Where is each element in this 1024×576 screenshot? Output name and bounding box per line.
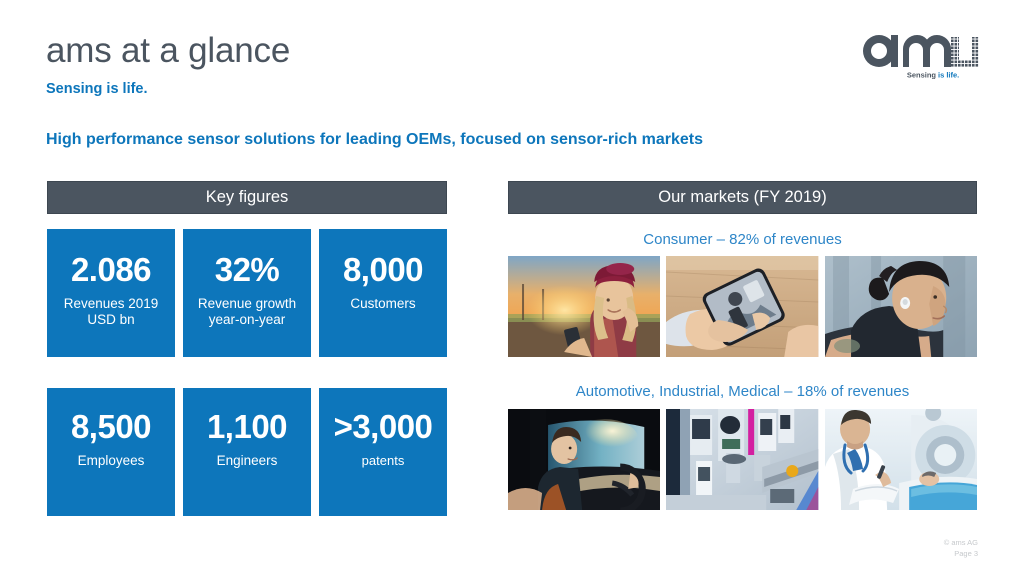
market-photo-row-automotive-industrial-medical <box>508 409 977 510</box>
key-figure-label: patents <box>362 453 405 469</box>
key-figure-tile-revenue-growth: 32% Revenue growth year-on-year <box>183 229 311 357</box>
market-caption-automotive-industrial-medical: Automotive, Industrial, Medical – 18% of… <box>508 383 977 400</box>
key-figure-label: Revenue growth year-on-year <box>198 296 296 329</box>
footer-copyright: © ams AG <box>944 538 978 549</box>
key-figure-tile-customers: 8,000 Customers <box>319 229 447 357</box>
key-figure-value: 1,100 <box>207 410 287 445</box>
key-figure-tile-revenues: 2.086 Revenues 2019 USD bn <box>47 229 175 357</box>
key-figure-label: Revenues 2019 USD bn <box>64 296 159 329</box>
key-figure-value: 8,000 <box>343 253 423 288</box>
key-figure-value: 32% <box>215 253 280 288</box>
page-title: ams at a glance <box>46 33 290 70</box>
key-figure-value: 8,500 <box>71 410 151 445</box>
photo-hands-holding-smartphone <box>666 256 818 357</box>
key-figures-row-1: 2.086 Revenues 2019 USD bn 32% Revenue g… <box>47 229 447 357</box>
our-markets-bar-label: Our markets (FY 2019) <box>658 188 826 207</box>
svg-text:is life.: is life. <box>938 71 959 80</box>
ams-logo: Sensing is life. <box>860 29 980 81</box>
photo-doctor-ct-scanner-patient <box>825 409 977 510</box>
key-figures-bar: Key figures <box>47 181 447 214</box>
footer: © ams AG Page 3 <box>944 538 978 560</box>
page-subtitle: Sensing is life. <box>46 81 148 97</box>
key-figures-bar-label: Key figures <box>206 188 289 207</box>
footer-page-number: Page 3 <box>944 549 978 560</box>
key-figure-tile-engineers: 1,100 Engineers <box>183 388 311 516</box>
key-figure-tile-patents: >3,000 patents <box>319 388 447 516</box>
market-photo-row-consumer <box>508 256 977 357</box>
photo-woman-beanie-phone-sunset <box>508 256 660 357</box>
page-headline: High performance sensor solutions for le… <box>46 131 703 149</box>
market-caption-consumer: Consumer – 82% of revenues <box>508 231 977 248</box>
photo-driver-night-car <box>508 409 660 510</box>
photo-industrial-production-line <box>666 409 818 510</box>
key-figures-row-2: 8,500 Employees 1,100 Engineers >3,000 p… <box>47 388 447 516</box>
slide: ams at a glance Sensing is life. High pe… <box>0 0 1024 576</box>
svg-text:Sensing: Sensing <box>907 71 937 80</box>
key-figure-label: Engineers <box>217 453 278 470</box>
our-markets-bar: Our markets (FY 2019) <box>508 181 977 214</box>
key-figure-label: Customers <box>350 296 415 313</box>
key-figure-value: 2.086 <box>71 253 151 288</box>
photo-man-earbuds-workout <box>825 256 977 357</box>
key-figure-tile-employees: 8,500 Employees <box>47 388 175 516</box>
key-figure-value: >3,000 <box>334 410 433 445</box>
key-figure-label: Employees <box>78 453 145 470</box>
